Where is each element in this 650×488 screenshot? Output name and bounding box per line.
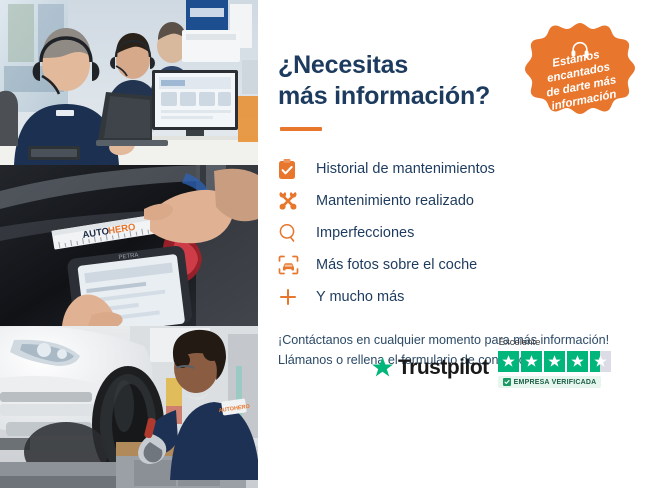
feature-label: Y mucho más (316, 290, 404, 305)
verified-business-badge: EMPRESA VERIFICADA (498, 376, 602, 388)
verified-business-label: EMPRESA VERIFICADA (514, 379, 597, 386)
car-scan-icon (278, 255, 308, 275)
mechanic-wheel-check-photo: AUTOHERO (0, 326, 258, 488)
plus-icon (278, 287, 308, 307)
content-panel: ¿Necesitas más información? Historial de… (258, 0, 650, 488)
feature-item-maintenance-history: Historial de mantenimientos (278, 153, 630, 185)
crossed-tools-icon (278, 191, 308, 211)
feature-item-more-photos: Más fotos sobre el coche (278, 249, 630, 281)
feature-label: Imperfecciones (316, 226, 414, 241)
support-badge: Estamos encantados de darte más informac… (521, 21, 639, 139)
trustpilot-logo: Trustpilot (370, 356, 489, 388)
trustpilot-score-block: Excelente (498, 337, 611, 388)
support-badge-text: Estamos encantados de darte más informac… (511, 11, 649, 149)
star-filled (521, 351, 542, 372)
clipboard-check-icon (278, 159, 308, 180)
magnifier-icon (278, 223, 308, 243)
trustpilot-stars (498, 351, 611, 372)
trustpilot-rating[interactable]: Trustpilot Excelente (370, 337, 611, 388)
feature-item-much-more: Y mucho más (278, 281, 630, 313)
feature-label: Más fotos sobre el coche (316, 258, 477, 273)
information-request-poster: AUTO HERO PETRA (0, 0, 650, 488)
star-half (590, 351, 611, 372)
feature-label: Mantenimiento realizado (316, 194, 474, 209)
title-divider (280, 127, 322, 131)
page-title-line-1: ¿Necesitas (278, 51, 408, 79)
feature-label: Historial de mantenimientos (316, 162, 495, 177)
star-filled (498, 351, 519, 372)
photo-column: AUTO HERO PETRA (0, 0, 258, 488)
trustpilot-star-icon (370, 356, 395, 380)
feature-item-maintenance-done: Mantenimiento realizado (278, 185, 630, 217)
star-filled (544, 351, 565, 372)
page-title: ¿Necesitas más información? (278, 50, 528, 111)
trustpilot-wordmark: Trustpilot (398, 356, 489, 380)
feature-list: Historial de mantenimientos M (278, 153, 630, 313)
star-filled (567, 351, 588, 372)
car-inspection-ruler-photo: AUTO HERO PETRA (0, 165, 258, 326)
trustpilot-rating-label: Excelente (499, 337, 541, 348)
call-center-agents-photo (0, 0, 258, 165)
feature-item-imperfections: Imperfecciones (278, 217, 630, 249)
verified-check-icon (503, 378, 511, 386)
page-title-line-2: más información? (278, 82, 490, 110)
